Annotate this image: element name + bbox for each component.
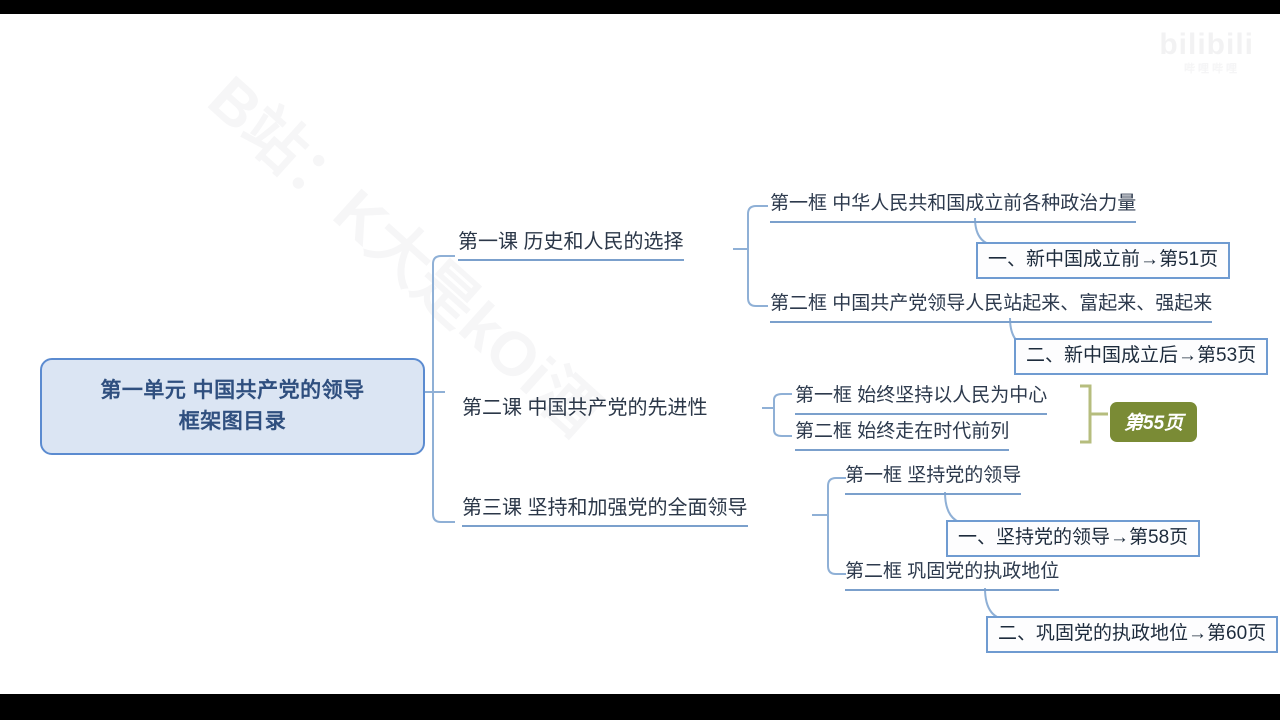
sub-node-lesson2-frame1[interactable]: 第一框 始终坚持以人民为中心: [795, 384, 1047, 415]
branch-node-lesson-3[interactable]: 第三课 坚持和加强党的全面领导: [462, 495, 748, 527]
sub-node-lesson1-frame1[interactable]: 第一框 中华人民共和国成立前各种政治力量: [770, 192, 1136, 223]
letterbox-bottom: [0, 694, 1280, 720]
root-node-line1: 第一单元 中国共产党的领导: [100, 376, 364, 406]
sub-node-lesson2-frame2[interactable]: 第二框 始终走在时代前列: [795, 420, 1009, 451]
root-node-line2: 框架图目录: [179, 407, 287, 437]
screenshot-root: bilibili 哔哩哔哩 B站：K大是kOi酒​: [0, 0, 1280, 720]
branch-node-lesson-2[interactable]: 第二课 中国共产党的先进性: [462, 395, 708, 425]
sub-node-lesson3-frame2[interactable]: 第二框 巩固党的执政地位: [845, 560, 1059, 591]
branch-node-lesson-1[interactable]: 第一课 历史和人民的选择: [458, 229, 684, 261]
page-ref-box-60[interactable]: 二、巩固党的执政地位→第60页: [986, 616, 1278, 653]
mindmap-canvas: bilibili 哔哩哔哩 B站：K大是kOi酒​: [0, 14, 1280, 694]
page-ref-box-55[interactable]: 第55页: [1110, 402, 1197, 442]
letterbox-top: [0, 0, 1280, 14]
page-ref-box-58[interactable]: 一、坚持党的领导→第58页: [946, 520, 1200, 557]
page-ref-box-51[interactable]: 一、新中国成立前→第51页: [976, 242, 1230, 279]
sub-node-lesson1-frame2[interactable]: 第二框 中国共产党领导人民站起来、富起来、强起来: [770, 292, 1212, 323]
root-node[interactable]: 第一单元 中国共产党的领导 框架图目录: [40, 358, 425, 455]
sub-node-lesson3-frame1[interactable]: 第一框 坚持党的领导: [845, 464, 1021, 495]
page-ref-box-53[interactable]: 二、新中国成立后→第53页: [1014, 338, 1268, 375]
